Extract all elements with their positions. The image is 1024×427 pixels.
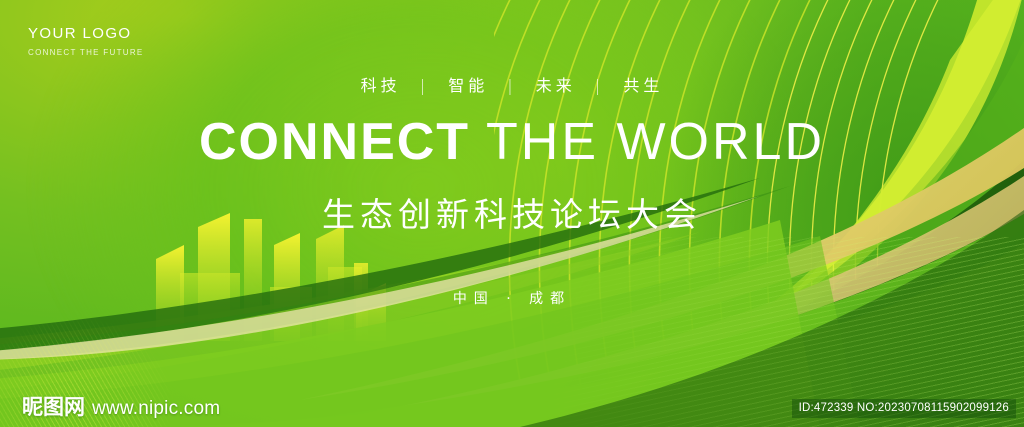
watermark-brand-cn: 昵图网 xyxy=(22,391,85,421)
hero-location: 中国 · 成都 xyxy=(0,288,1024,308)
tagline-item-2: 未来 xyxy=(536,76,576,95)
tagline-item-1: 智能 xyxy=(448,76,488,95)
logo: YOUR LOGO CONNECT THE FUTURE xyxy=(28,26,144,57)
logo-title: YOUR LOGO xyxy=(28,26,144,43)
event-banner: YOUR LOGO CONNECT THE FUTURE 科技 | 智能 | 未… xyxy=(0,0,1024,427)
tagline-separator-2: | xyxy=(595,76,604,95)
watermark-url: www.nipic.com xyxy=(92,398,220,420)
tagline-item-3: 共生 xyxy=(623,76,663,95)
hero-tagline: 科技 | 智能 | 未来 | 共生 xyxy=(0,72,1024,96)
headline-light: THE WORLD xyxy=(486,113,825,171)
hero-subtitle: 生态创新科技论坛大会 xyxy=(0,188,1024,236)
logo-subtitle: CONNECT THE FUTURE xyxy=(28,48,144,57)
tagline-item-0: 科技 xyxy=(361,76,401,95)
tagline-separator-0: | xyxy=(420,76,429,95)
stock-id-label: ID:472339 NO:20230708115902099126 xyxy=(792,399,1016,418)
hero-headline: CONNECT THE WORLD xyxy=(0,116,1024,168)
watermark: 昵图网 www.nipic.com xyxy=(22,391,220,421)
headline-bold: CONNECT xyxy=(199,113,470,171)
tagline-separator-1: | xyxy=(507,76,516,95)
